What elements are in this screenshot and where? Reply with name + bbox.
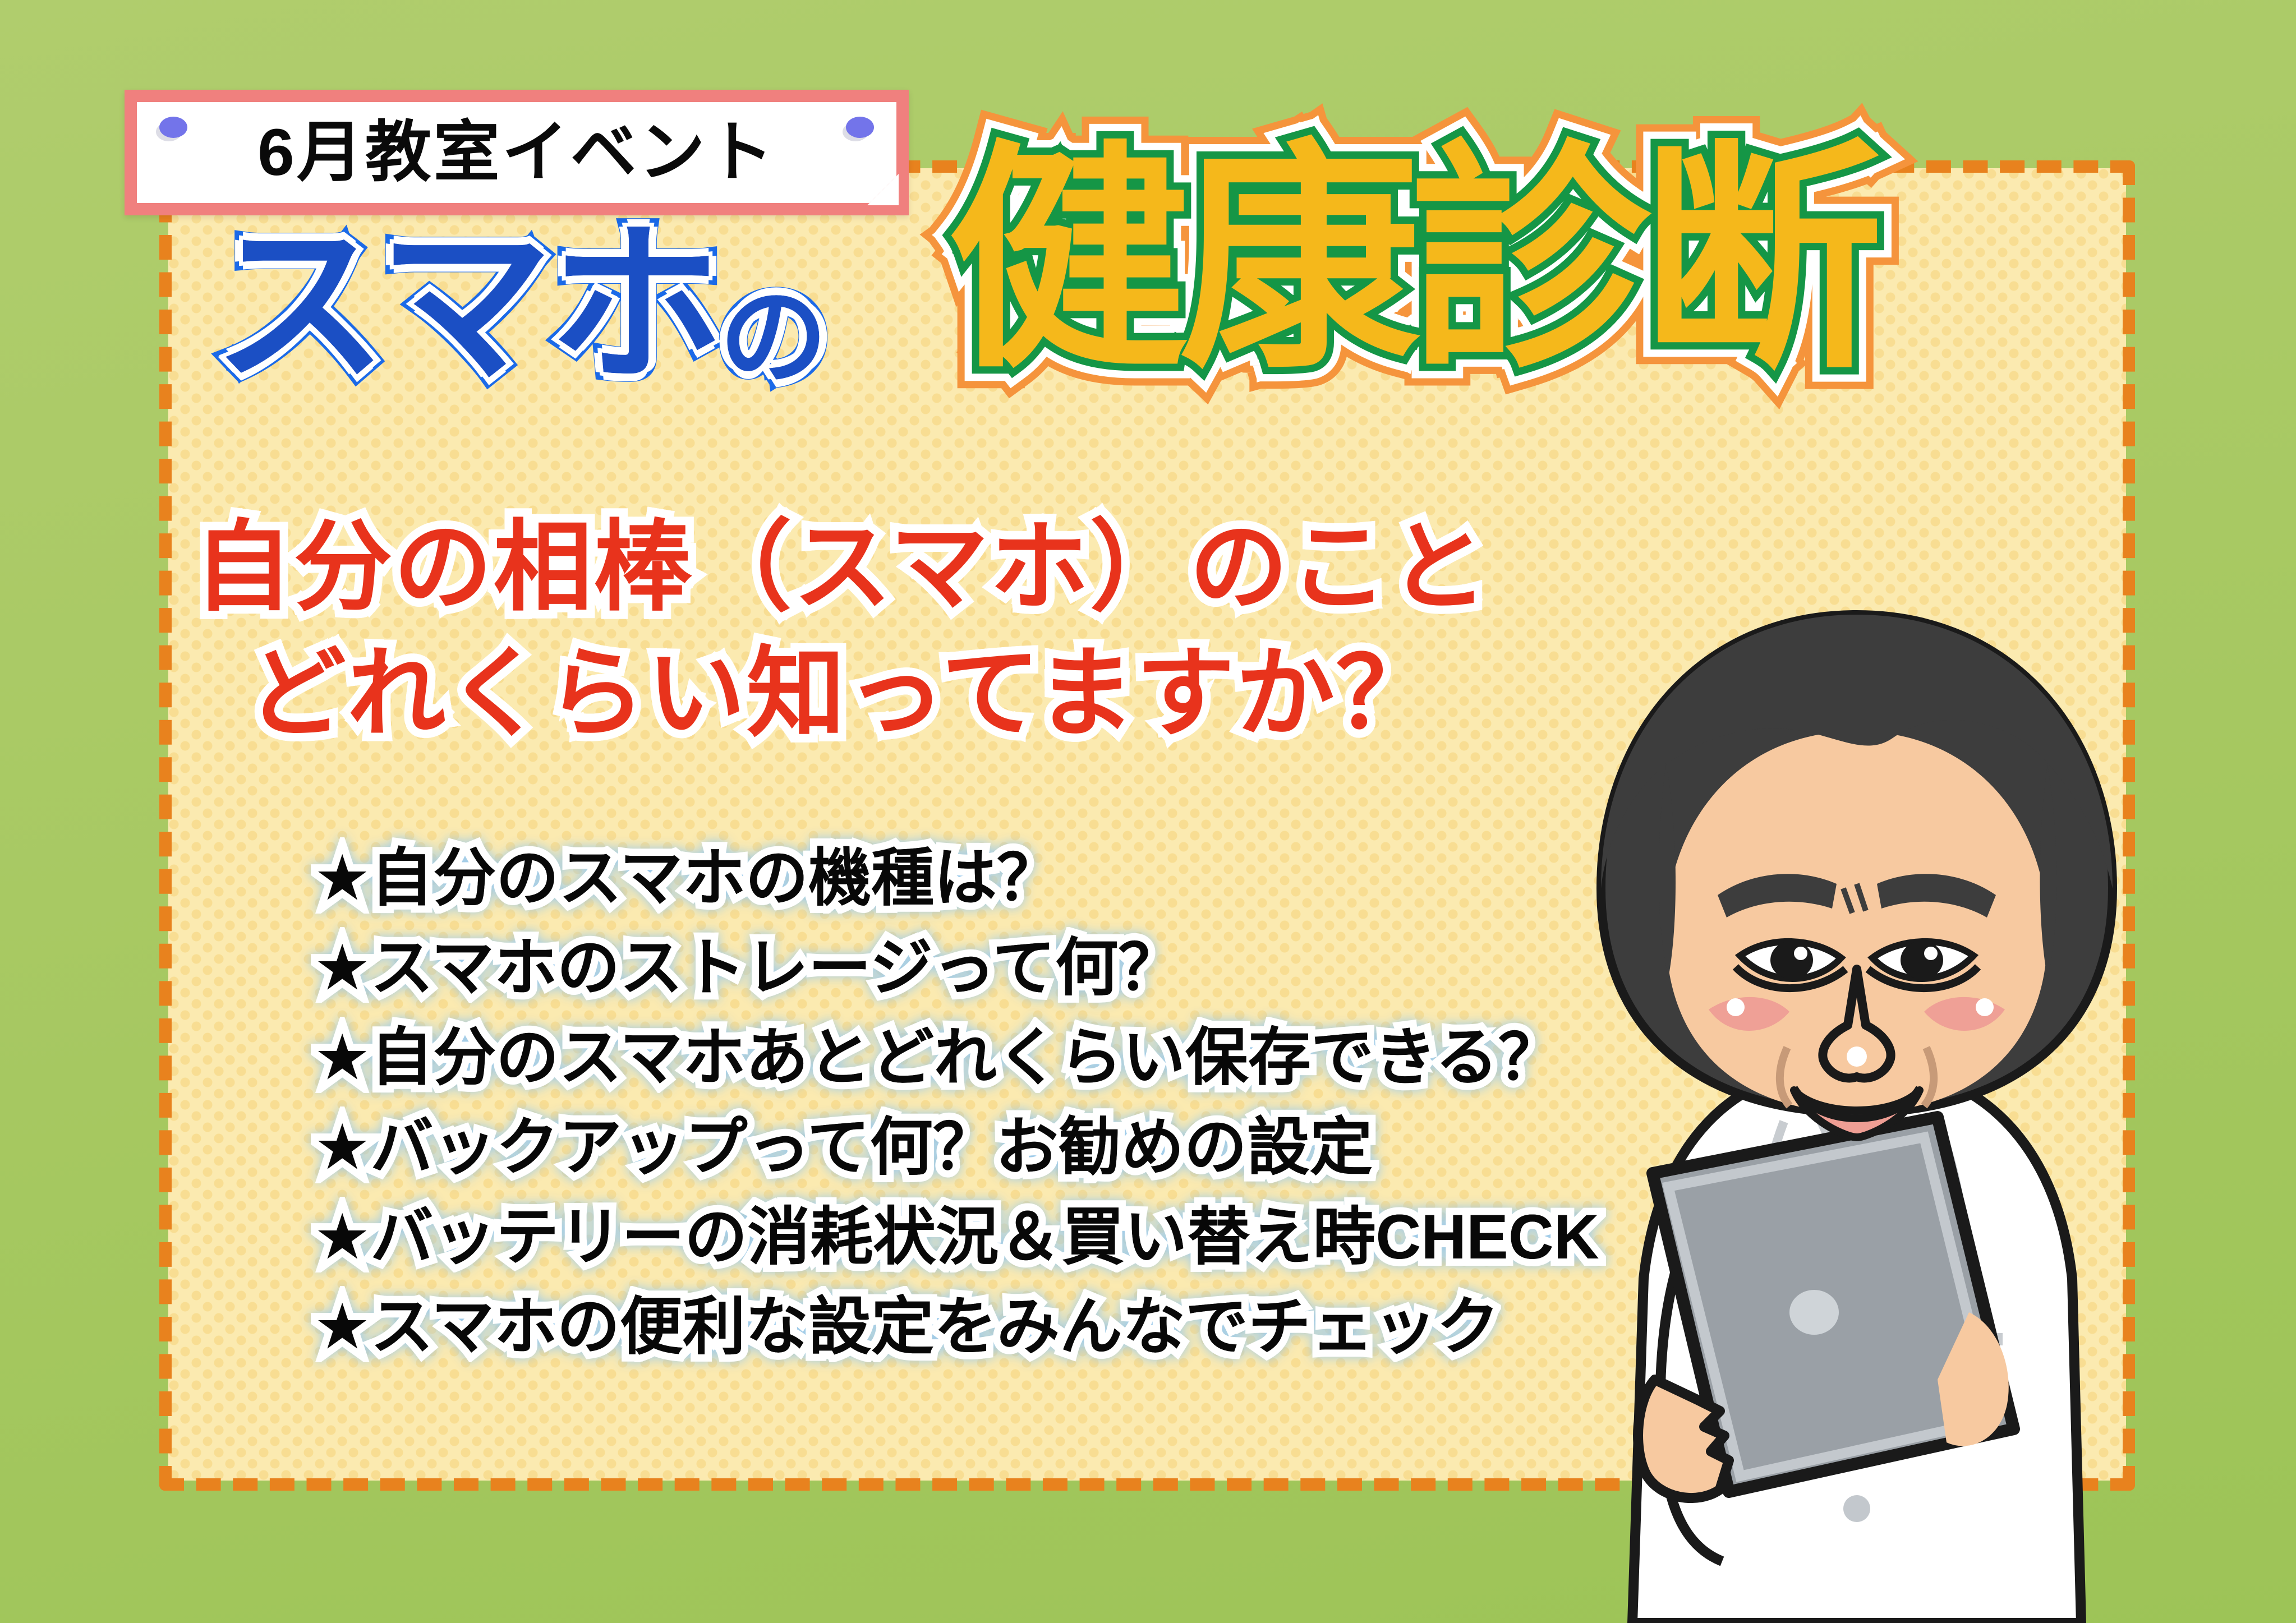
eye-left [1736, 941, 1846, 988]
event-badge: 6月教室イベント [125, 90, 909, 215]
eye-right [1868, 941, 1978, 988]
poster-root: 6月教室イベント スマホの スマホの スマホの 健康診断 健康診断 健康診断 健… [0, 0, 2296, 1623]
doctor-with-tablet-illustration [1520, 594, 2193, 1623]
head [1601, 615, 2113, 1137]
event-badge-label: 6月教室イベント [137, 119, 896, 186]
